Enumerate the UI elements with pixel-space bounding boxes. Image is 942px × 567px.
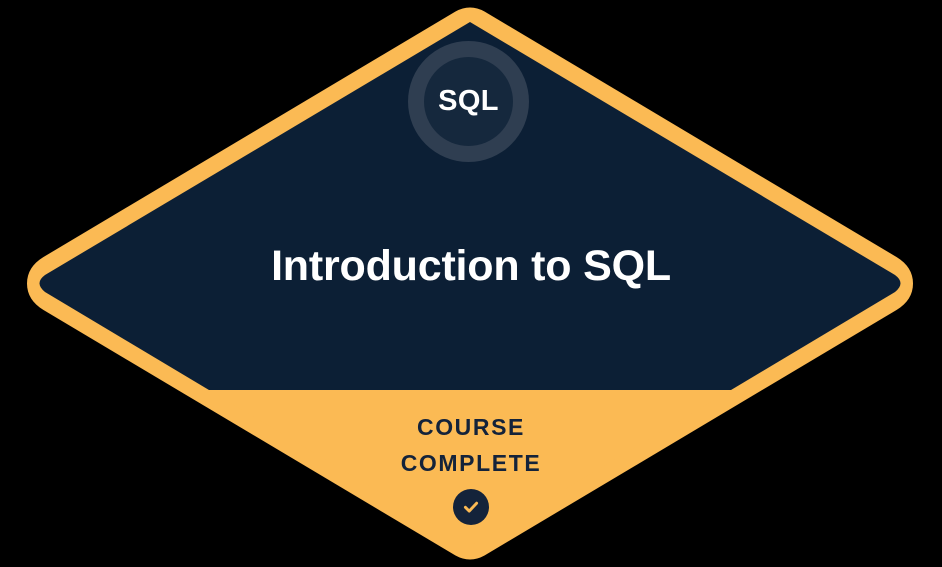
course-completion-badge: SQL Introduction to SQL COURSE COMPLETE [0, 0, 942, 567]
status-label-line-2: COMPLETE [0, 445, 942, 481]
course-status-block: COURSE COMPLETE [0, 409, 942, 525]
check-circle-icon [453, 489, 489, 525]
sql-emblem-inner-disc: SQL [424, 57, 513, 146]
sql-emblem-label: SQL [438, 87, 499, 116]
status-label-line-1: COURSE [0, 409, 942, 445]
sql-ring-emblem-icon: SQL [408, 41, 529, 162]
course-title: Introduction to SQL [0, 243, 942, 290]
